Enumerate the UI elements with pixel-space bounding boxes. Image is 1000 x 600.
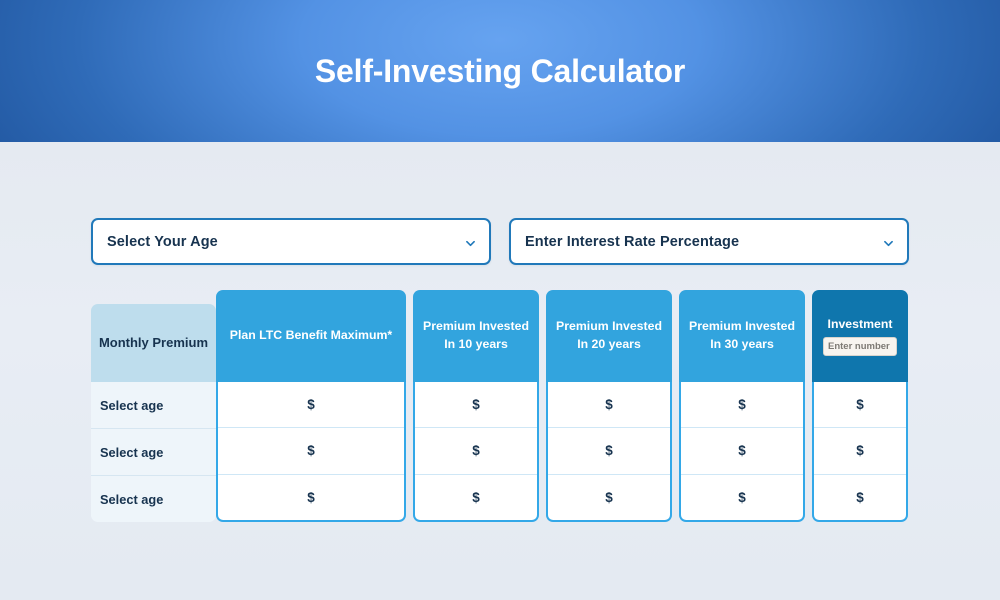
chevron-down-icon: [466, 239, 475, 248]
list-item[interactable]: Select age: [91, 382, 216, 428]
premium-20-years-cells: $ $ $: [546, 382, 672, 522]
table-cell: $: [548, 382, 670, 427]
table-cell: $: [681, 427, 803, 473]
column-header-investment: Investment: [812, 290, 908, 382]
table-cell: $: [681, 474, 803, 520]
page-banner: Self-Investing Calculator: [0, 0, 1000, 142]
table-column-premium-10-years: Premium Invested In 10 years $ $ $: [413, 290, 539, 522]
table-column-plan-ltc-benefit: Plan LTC Benefit Maximum* $ $ $: [216, 290, 406, 522]
table-cell: $: [548, 474, 670, 520]
investment-cells: $ $ $: [812, 382, 908, 522]
chevron-down-icon: [884, 239, 893, 248]
calculator-table: Monthly Premium Select age Select age Se…: [91, 290, 909, 522]
age-select[interactable]: Select Your Age: [91, 218, 491, 265]
monthly-premium-cells: Select age Select age Select age: [91, 382, 216, 522]
column-header-premium-30-years: Premium Invested In 30 years: [679, 290, 805, 382]
table-cell: $: [681, 382, 803, 427]
table-cell: $: [814, 382, 906, 427]
age-select-label: Select Your Age: [107, 234, 218, 250]
table-cell: $: [218, 427, 404, 473]
table-cell: $: [218, 474, 404, 520]
list-item[interactable]: Select age: [91, 475, 216, 522]
interest-rate-select[interactable]: Enter Interest Rate Percentage: [509, 218, 909, 265]
column-header-text: Investment: [828, 316, 893, 334]
table-cell: $: [814, 474, 906, 520]
column-header-text: Premium Invested: [689, 318, 795, 336]
column-header-text: Premium Invested: [556, 318, 662, 336]
column-header-plan-ltc-benefit: Plan LTC Benefit Maximum*: [216, 290, 406, 382]
page-body: Select Your Age Enter Interest Rate Perc…: [0, 142, 1000, 600]
table-cell: $: [548, 427, 670, 473]
table-cell: $: [415, 474, 537, 520]
column-header-subtext: In 20 years: [577, 336, 641, 354]
page-title: Self-Investing Calculator: [315, 55, 685, 87]
table-cell: $: [415, 382, 537, 427]
column-header-text: Monthly Premium: [99, 334, 208, 353]
table-column-premium-20-years: Premium Invested In 20 years $ $ $: [546, 290, 672, 522]
list-item[interactable]: Select age: [91, 428, 216, 475]
column-header-text: Plan LTC Benefit Maximum*: [230, 327, 392, 345]
controls-row: Select Your Age Enter Interest Rate Perc…: [91, 218, 909, 265]
premium-30-years-cells: $ $ $: [679, 382, 805, 522]
table-column-investment: Investment $ $ $: [812, 290, 908, 522]
table-cell: $: [814, 427, 906, 473]
column-header-subtext: In 30 years: [710, 336, 774, 354]
table-cell: $: [218, 382, 404, 427]
column-header-text: Premium Invested: [423, 318, 529, 336]
column-header-subtext: In 10 years: [444, 336, 508, 354]
table-column-premium-30-years: Premium Invested In 30 years $ $ $: [679, 290, 805, 522]
interest-rate-select-label: Enter Interest Rate Percentage: [525, 234, 739, 250]
premium-10-years-cells: $ $ $: [413, 382, 539, 522]
investment-amount-input[interactable]: [823, 337, 897, 356]
column-header-monthly-premium: Monthly Premium: [91, 304, 216, 382]
plan-ltc-benefit-cells: $ $ $: [216, 382, 406, 522]
column-header-premium-20-years: Premium Invested In 20 years: [546, 290, 672, 382]
table-cell: $: [415, 427, 537, 473]
column-header-premium-10-years: Premium Invested In 10 years: [413, 290, 539, 382]
table-column-monthly-premium: Monthly Premium Select age Select age Se…: [91, 290, 216, 522]
